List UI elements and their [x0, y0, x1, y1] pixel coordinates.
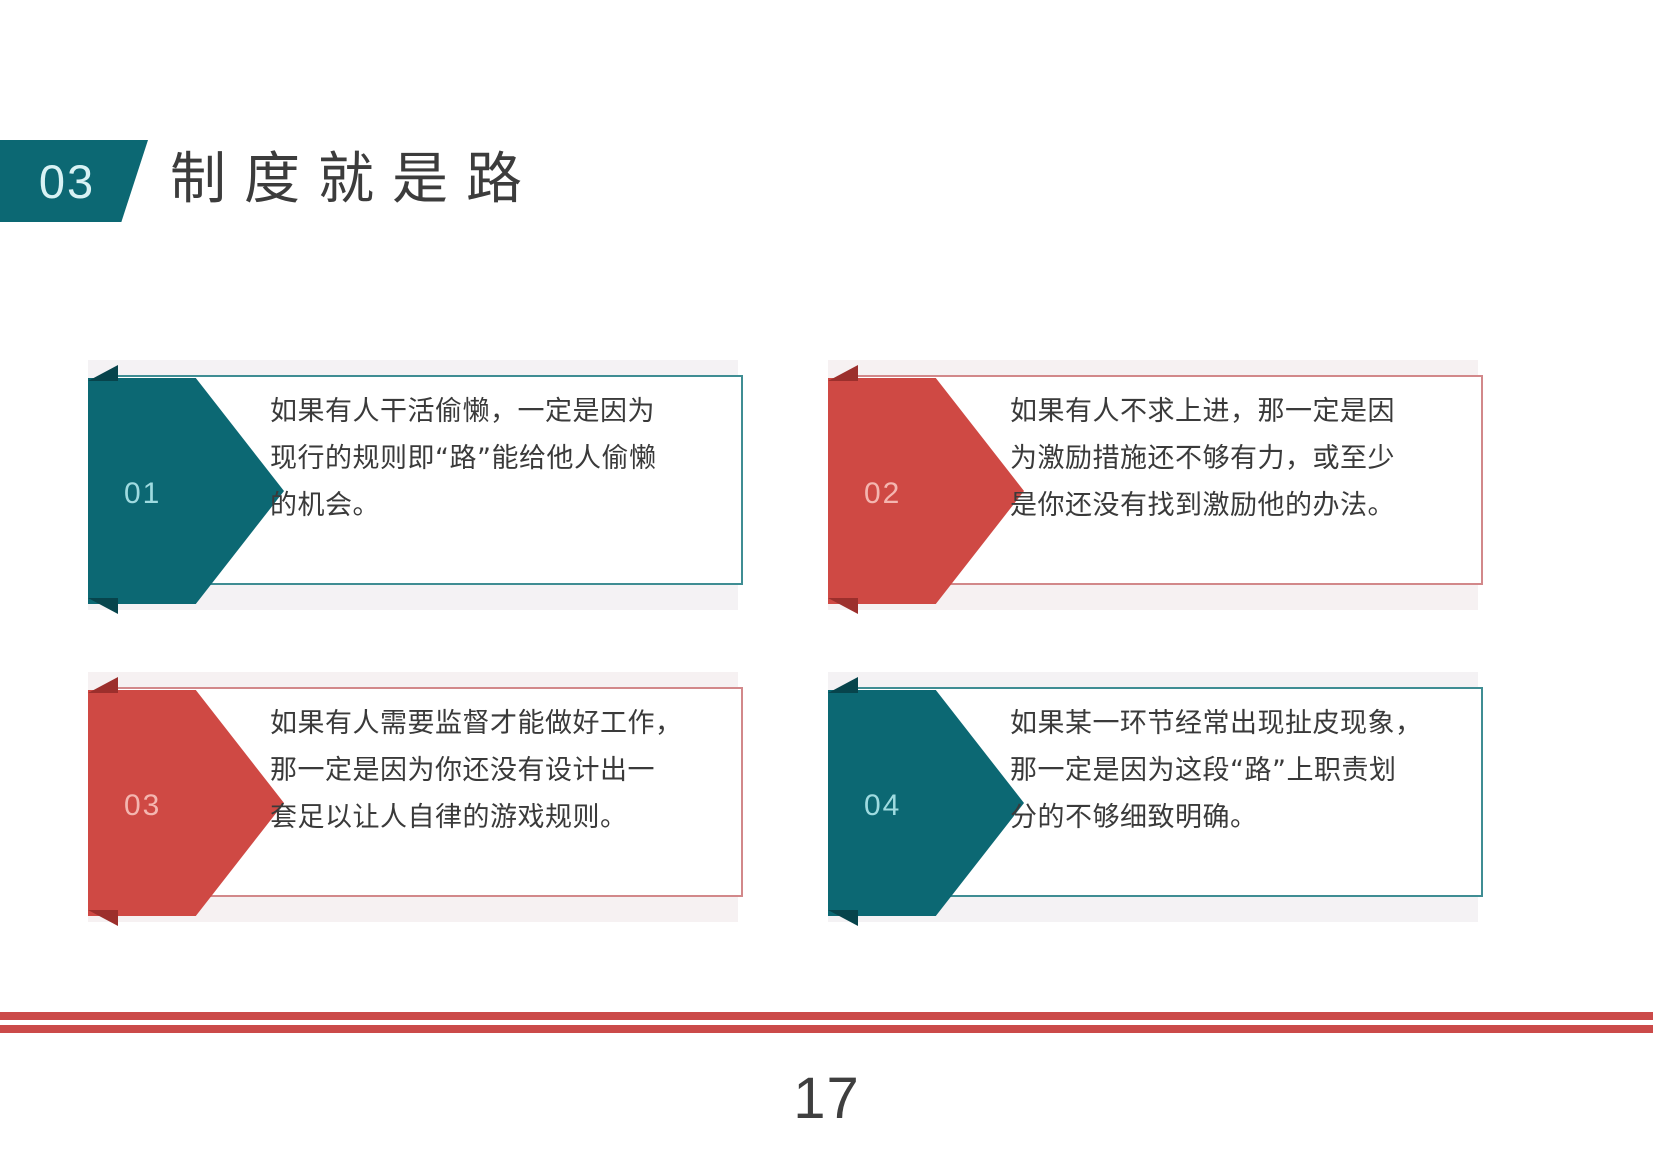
card-body-text: 如果某一环节经常出现扯皮现象， 那一定是因为这段“路”上职责划 分的不够细致明确…: [1010, 700, 1458, 841]
page-title: 制度就是路: [170, 136, 540, 224]
footer-divider-line-bottom: [0, 1025, 1653, 1033]
info-card-03[interactable]: 03 如果有人需要监督才能做好工作， 那一定是因为你还没有设计出一 套足以让人自…: [88, 672, 743, 925]
info-card-04[interactable]: 04 如果某一环节经常出现扯皮现象， 那一定是因为这段“路”上职责划 分的不够细…: [828, 672, 1483, 925]
footer-divider-line-top: [0, 1012, 1653, 1020]
card-body-text: 如果有人干活偷懒，一定是因为 现行的规则即“路”能给他人偷懒 的机会。: [270, 388, 718, 529]
card-number-label: 01: [124, 477, 161, 511]
slide-title-bar: 03 制度就是路: [0, 140, 900, 228]
card-number-label: 04: [864, 789, 901, 823]
footer-divider: [0, 1012, 1653, 1034]
page-number: 17: [0, 1065, 1653, 1132]
card-number-label: 02: [864, 477, 901, 511]
card-body-text: 如果有人不求上进，那一定是因 为激励措施还不够有力，或至少 是你还没有找到激励他…: [1010, 388, 1458, 529]
card-body-text: 如果有人需要监督才能做好工作， 那一定是因为你还没有设计出一 套足以让人自律的游…: [270, 700, 718, 841]
info-card-02[interactable]: 02 如果有人不求上进，那一定是因 为激励措施还不够有力，或至少 是你还没有找到…: [828, 360, 1483, 613]
section-number-label: 03: [39, 158, 95, 205]
section-number-badge: 03: [0, 140, 148, 222]
info-card-01[interactable]: 01 如果有人干活偷懒，一定是因为 现行的规则即“路”能给他人偷懒 的机会。: [88, 360, 743, 613]
card-number-label: 03: [124, 789, 161, 823]
